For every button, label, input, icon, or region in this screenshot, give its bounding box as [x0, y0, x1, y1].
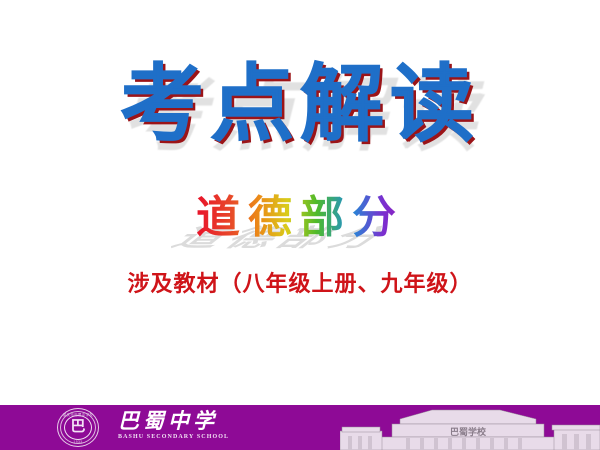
school-name-block: 巴蜀中学 BASHU SECONDARY SCHOOL [118, 410, 268, 442]
slide-subtitle: 道德部分 道德部分 [0, 194, 600, 242]
caption-text: 涉及教材（八年级上册、九年级） [127, 271, 472, 296]
school-seal-icon: 重庆市巴蜀中学校 巴 1933 [57, 408, 99, 447]
school-gate-watermark: 巴蜀学校 [340, 405, 600, 450]
slide-caption: 涉及教材（八年级上册、九年级） [0, 266, 600, 298]
title-face-layer: 考点解读 [120, 59, 480, 152]
gate-inscription: 巴蜀学校 [450, 426, 487, 437]
seal-center-glyph: 巴 [66, 417, 90, 438]
presentation-slide: 考点解读 考点解读 考点解读 道德部分 道德部分 涉及教材（八年级上册、九年级）… [0, 0, 600, 450]
school-name-cn: 巴蜀中学 [118, 410, 268, 433]
slide-title: 考点解读 考点解读 考点解读 [0, 62, 600, 150]
seal-arc-top-text: 重庆市巴蜀中学校 [57, 412, 99, 417]
title-stack: 考点解读 考点解读 考点解读 [120, 62, 480, 150]
footer-banner: 重庆市巴蜀中学校 巴 1933 巴蜀中学 BASHU SECONDARY SCH… [0, 405, 600, 450]
school-name-en: BASHU SECONDARY SCHOOL [118, 433, 268, 442]
subtitle-face-layer: 道德部分 [196, 193, 404, 242]
seal-arc-bottom-text: 1933 [57, 440, 99, 444]
subtitle-stack: 道德部分 道德部分 [196, 194, 404, 242]
